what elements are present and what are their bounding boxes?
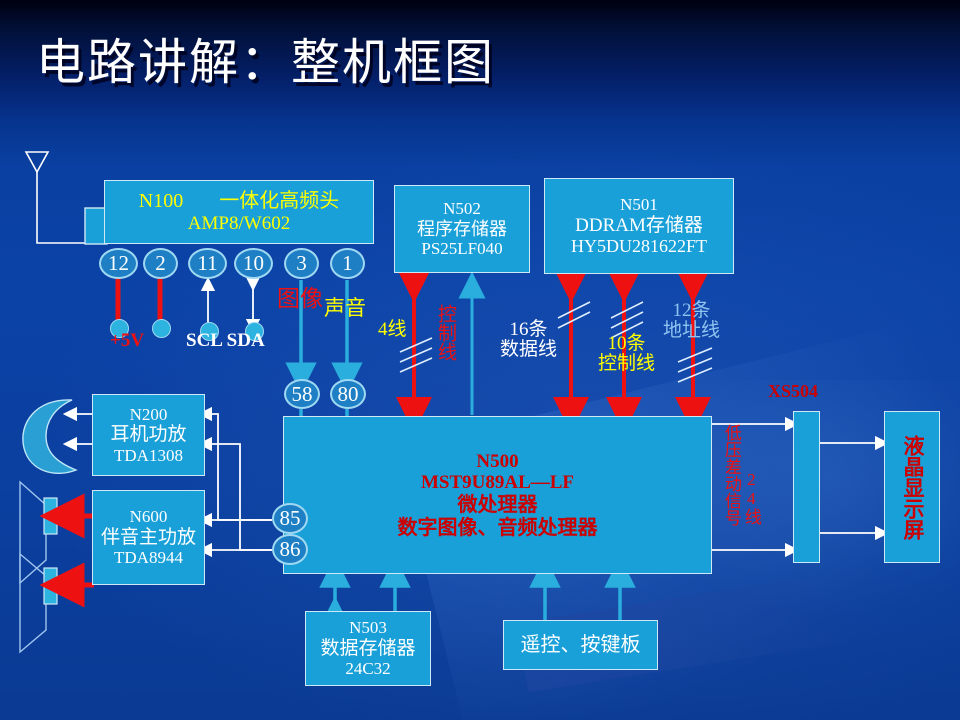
label-data-bus-count: 16条 — [510, 319, 548, 340]
label-4-line: 4线 — [378, 320, 407, 340]
n501-title: DDRAM存储器 — [575, 215, 703, 237]
label-lvds-signal: 低压差动信号 — [722, 424, 740, 526]
pin-tuner-11[interactable]: 11 — [188, 248, 227, 279]
label-lvds-count: 24线 — [742, 470, 760, 525]
pin-tuner-1[interactable]: 1 — [330, 248, 365, 279]
label-control-bus-count: 10条 — [608, 333, 646, 354]
label-audio: 声音 — [324, 297, 366, 319]
slide-canvas: 电路讲解：整机框图 — [0, 0, 960, 720]
n600-title: 伴音主功放 — [101, 527, 196, 549]
n500-role: 微处理器 — [458, 494, 538, 517]
n503-part: 24C32 — [345, 659, 390, 678]
label-control-bus-name: 控制线 — [598, 353, 655, 374]
pin-mcu-80[interactable]: 80 — [330, 379, 366, 409]
n502-part: PS25LF040 — [421, 239, 502, 258]
label-video: 图像 — [277, 287, 323, 311]
pin-mcu-58[interactable]: 58 — [284, 379, 320, 409]
n502-ref: N502 — [443, 199, 481, 218]
wire-pin85-n200 — [205, 414, 272, 520]
tuner-title: 一体化高频头 — [219, 190, 339, 212]
block-lcd-panel[interactable]: 液晶显示屏 — [884, 411, 940, 563]
pin-tuner-10[interactable]: 10 — [234, 248, 273, 279]
block-audio-amp-n600[interactable]: N600 伴音主功放 TDA8944 — [92, 490, 205, 585]
bus-slash-16line — [558, 302, 590, 328]
label-control-line-vertical: 控制线 — [435, 304, 455, 361]
n500-ref: N500 — [476, 451, 518, 473]
tuner-part: AMP8/W602 — [188, 213, 290, 235]
label-address-bus-count: 12条 — [673, 300, 711, 321]
pin-mcu-86[interactable]: 86 — [272, 534, 308, 565]
n200-ref: N200 — [130, 405, 168, 424]
block-ddram-n501[interactable]: N501 DDRAM存储器 HY5DU281622FT — [544, 178, 734, 274]
label-data-bus-name: 数据线 — [500, 339, 557, 360]
block-connector-xs504[interactable] — [793, 411, 820, 563]
connector-xs504-label: XS504 — [768, 382, 818, 401]
speaker-icon-top — [20, 482, 46, 583]
n600-part: TDA8944 — [114, 548, 183, 567]
label-i2c-scl-sda: SCL SDA — [186, 331, 265, 351]
pin-tuner-2[interactable]: 2 — [143, 248, 178, 279]
pin-tuner-3[interactable]: 3 — [284, 248, 319, 279]
block-remote-keypad[interactable]: 遥控、按键板 — [503, 620, 658, 670]
n600-ref: N600 — [130, 507, 168, 526]
n200-title: 耳机功放 — [110, 424, 186, 446]
n501-part: HY5DU281622FT — [571, 236, 707, 257]
speaker-cone-top — [44, 498, 57, 534]
speaker-icon-bottom — [20, 554, 46, 652]
tuner-ref: N100 — [139, 190, 183, 212]
n503-ref: N503 — [349, 618, 387, 637]
label-power-5v: +5V — [110, 331, 144, 351]
n501-ref: N501 — [620, 195, 658, 214]
headphone-icon — [23, 400, 76, 473]
pin-mcu-85[interactable]: 85 — [272, 503, 308, 534]
n500-function: 数字图像、音频处理器 — [398, 517, 598, 540]
node-power-2 — [152, 319, 171, 338]
wire-pin86-n200b — [205, 444, 272, 550]
n200-part: TDA1308 — [114, 446, 183, 465]
block-headphone-amp-n200[interactable]: N200 耳机功放 TDA1308 — [92, 394, 205, 476]
lcd-panel-title: 液晶显示屏 — [900, 435, 924, 540]
block-program-memory-n502[interactable]: N502 程序存储器 PS25LF040 — [394, 185, 530, 273]
speaker-cone-bottom — [44, 568, 57, 604]
label-data-bus: 16条 数据线 — [500, 320, 557, 360]
label-address-bus: 12条 地址线 — [663, 301, 720, 341]
label-address-bus-name: 地址线 — [663, 320, 720, 341]
pin-tuner-12[interactable]: 12 — [99, 248, 138, 279]
label-control-bus: 10条 控制线 — [598, 334, 655, 374]
wiring-overlay — [0, 0, 960, 720]
block-tuner-n100[interactable]: N100 一体化高频头 AMP8/W602 — [104, 180, 374, 244]
antenna-icon — [26, 152, 85, 243]
n503-title: 数据存储器 — [320, 638, 415, 660]
block-mcu-n500[interactable]: N500 MST9U89AL—LF 微处理器 数字图像、音频处理器 — [283, 416, 712, 574]
block-data-memory-n503[interactable]: N503 数据存储器 24C32 — [305, 611, 431, 686]
n502-title: 程序存储器 — [417, 219, 507, 240]
n500-part: MST9U89AL—LF — [421, 472, 574, 494]
tuner-title-line: N100 一体化高频头 — [139, 190, 339, 213]
remote-keypad-title: 遥控、按键板 — [521, 634, 641, 657]
